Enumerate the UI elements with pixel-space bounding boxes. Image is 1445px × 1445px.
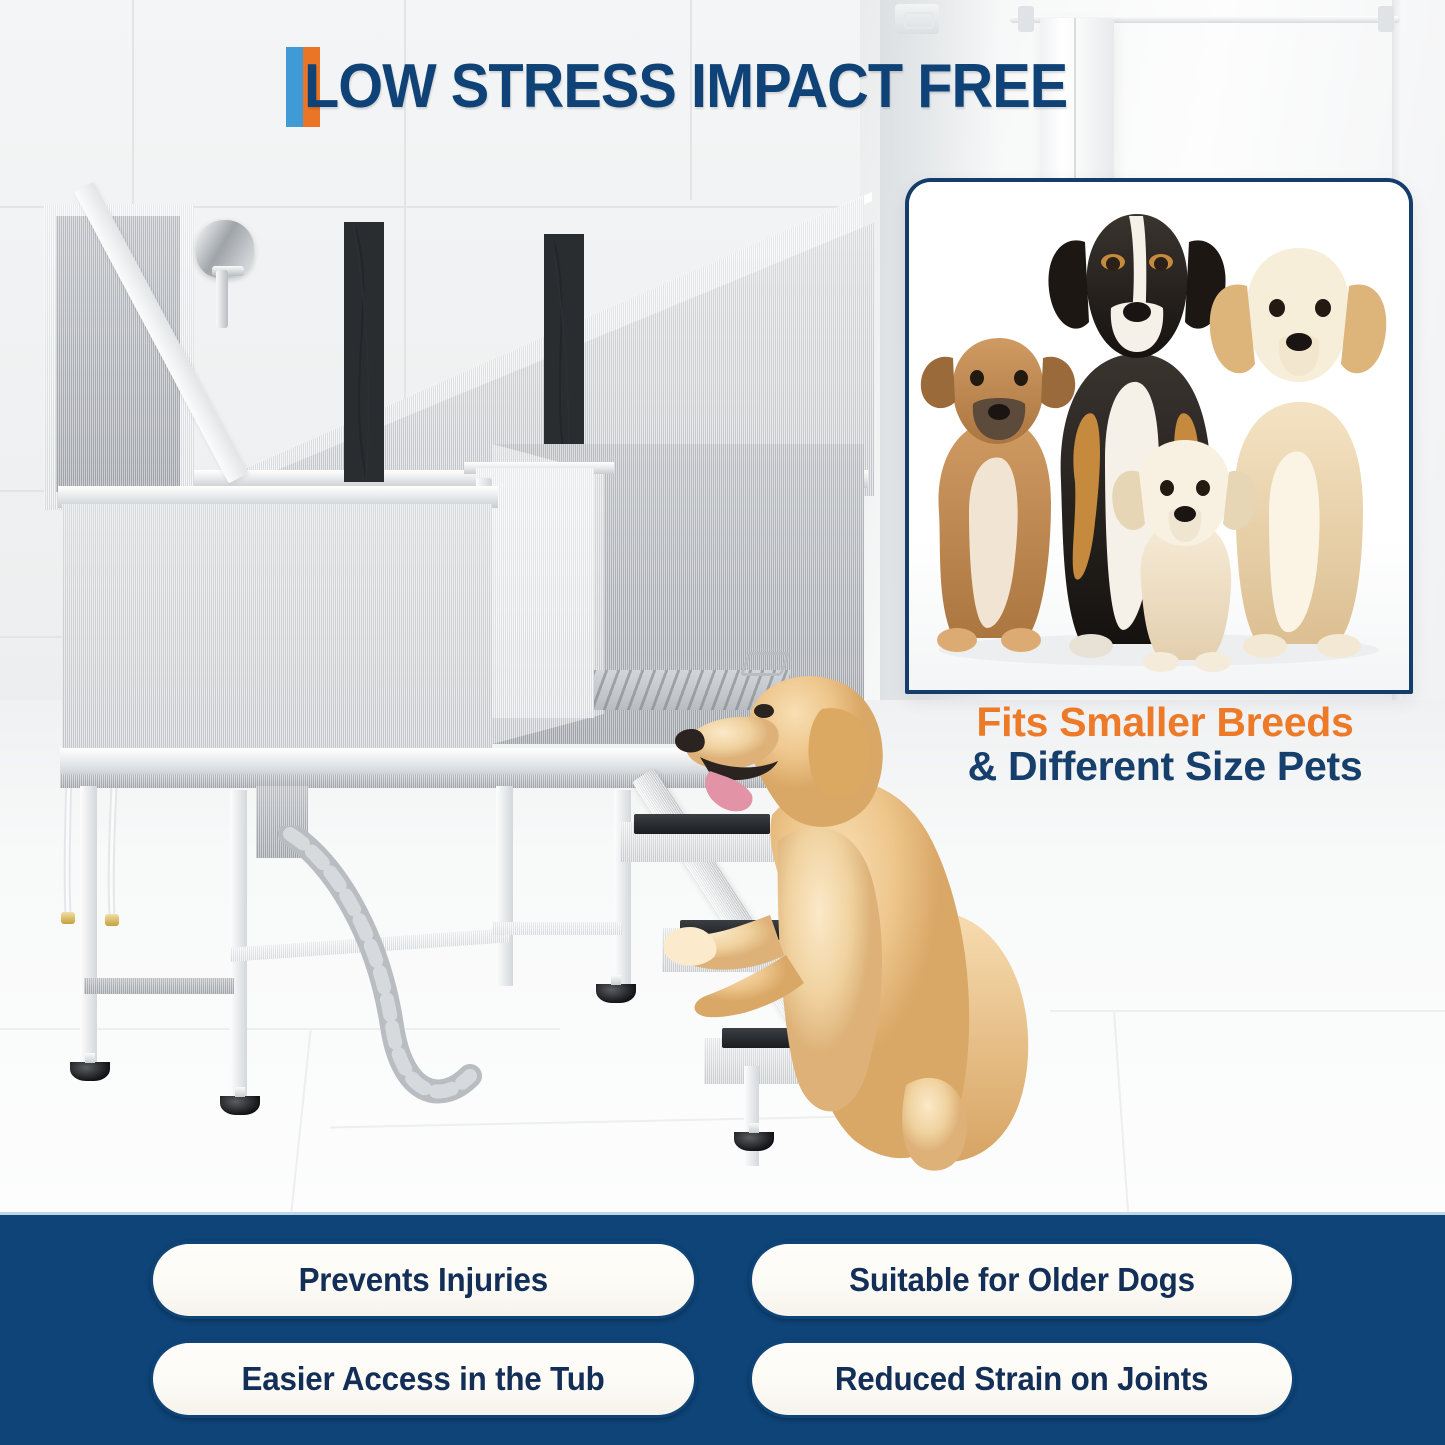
stand-leg xyxy=(80,786,97,1066)
dogs-photo xyxy=(909,182,1409,690)
soap-dish-holder xyxy=(895,4,939,34)
page-title: LOW STRESS IMPACT FREE xyxy=(286,44,1125,130)
caption-line-1: Fits Smaller Breeds xyxy=(905,700,1425,744)
restraint-cord xyxy=(344,222,384,482)
page-title-text: LOW STRESS IMPACT FREE xyxy=(304,56,1067,118)
feature-pill-label: Suitable for Older Dogs xyxy=(849,1261,1195,1299)
accent-bar-blue xyxy=(286,47,303,127)
feature-pill[interactable]: Prevents Injuries xyxy=(150,1241,697,1319)
stand-leg xyxy=(230,790,247,1100)
hose-end-fitting xyxy=(61,912,75,924)
dog-golden-retriever-puppy xyxy=(1210,248,1387,658)
floor-grout-line xyxy=(1050,1010,1445,1012)
feature-bar: Prevents Injuries Suitable for Older Dog… xyxy=(0,1212,1445,1445)
stand-cross-rail xyxy=(84,978,234,994)
leveling-foot xyxy=(70,1062,110,1081)
feature-pill-label: Reduced Strain on Joints xyxy=(835,1360,1208,1398)
feature-pill-label: Prevents Injuries xyxy=(299,1261,548,1299)
tub-front-panel xyxy=(62,504,492,762)
stand-leg xyxy=(614,790,631,990)
feature-pill-label: Easier Access in the Tub xyxy=(242,1360,605,1398)
feature-pill[interactable]: Suitable for Older Dogs xyxy=(749,1241,1296,1319)
towel-rail-bracket xyxy=(1378,6,1394,32)
leveling-foot xyxy=(596,984,636,1003)
leveling-foot xyxy=(220,1096,260,1115)
fits-all-sizes-panel xyxy=(905,178,1413,694)
hose-end-fitting xyxy=(105,914,119,926)
feature-pill[interactable]: Reduced Strain on Joints xyxy=(749,1340,1296,1418)
towel-rail-bracket xyxy=(1018,6,1034,32)
panel-caption: Fits Smaller Breeds & Different Size Pet… xyxy=(905,700,1425,789)
feature-pill-grid: Prevents Injuries Suitable for Older Dog… xyxy=(0,1215,1445,1445)
sprayer-stem xyxy=(216,270,228,328)
feature-pill[interactable]: Easier Access in the Tub xyxy=(150,1340,697,1418)
dog-small-tan xyxy=(921,338,1075,652)
infographic-canvas: LOW STRESS IMPACT FREE xyxy=(0,0,1445,1445)
caption-line-2: & Different Size Pets xyxy=(905,744,1425,788)
flexible-drain-hose xyxy=(274,826,514,1126)
